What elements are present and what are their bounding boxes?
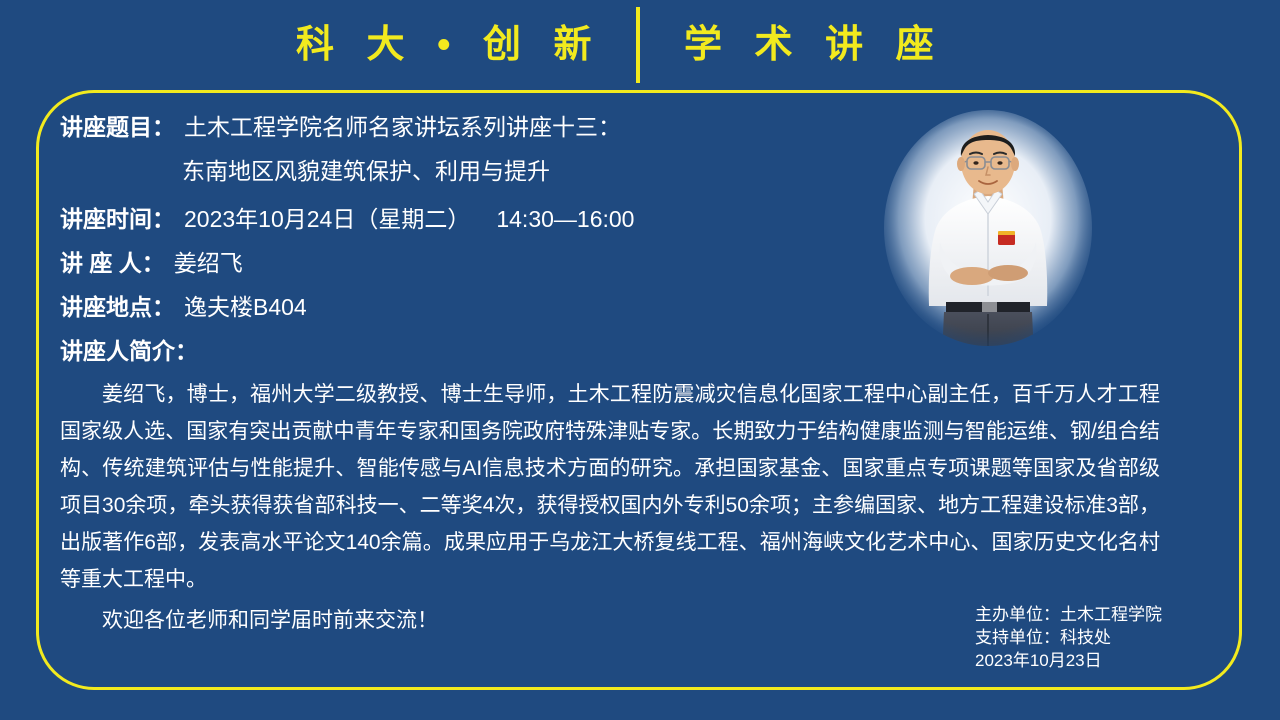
lecture-title-label: 讲座题目： [60,108,175,142]
poster-content: 讲座题目： 土木工程学院名师名家讲坛系列讲座十三： 东南地区风貌建筑保护、利用与… [60,108,1220,639]
header-left-title: 科 大 • 创 新 [296,26,636,64]
lecture-time-row: 讲座时间： 2023年10月24日（星期二） 14:30—16:00 [60,200,1220,244]
lecture-venue-row: 讲座地点： 逸夫楼B404 [60,288,1220,332]
lecture-time-date: 2023年10月24日（星期二） [184,200,470,234]
poster-header: 科 大 • 创 新 学 术 讲 座 [0,0,1280,90]
lecture-title-row-2: 东南地区风貌建筑保护、利用与提升 [60,152,1220,200]
lecture-speaker-value: 姜绍飞 [174,244,243,278]
footer-supporter: 支持单位：科技处 [975,626,1162,649]
header-right-title: 学 术 讲 座 [640,26,984,64]
lecture-title-line1: 土木工程学院名师名家讲坛系列讲座十三： [184,108,621,142]
lecture-time-range: 14:30—16:00 [496,206,634,233]
lecture-speaker-row: 讲 座 人： 姜绍飞 [60,244,1220,288]
lecture-time-label: 讲座时间： [60,200,175,234]
lecture-poster: 科 大 • 创 新 学 术 讲 座 [0,0,1280,720]
lecture-venue-label: 讲座地点： [60,288,175,322]
bio-heading: 讲座人简介： [60,332,1220,376]
footer-organizer: 主办单位：土木工程学院 [975,603,1162,626]
lecture-title-row: 讲座题目： 土木工程学院名师名家讲坛系列讲座十三： [60,108,1220,152]
lecture-title-line2: 东南地区风貌建筑保护、利用与提升 [182,152,550,186]
lecture-speaker-label: 讲 座 人： [60,244,165,278]
bio-paragraph: 姜绍飞，博士，福州大学二级教授、博士生导师，土木工程防震减灾信息化国家工程中心副… [60,376,1160,598]
footer-date: 2023年10月23日 [975,649,1162,672]
bio-heading-label: 讲座人简介： [60,332,198,366]
lecture-venue-value: 逸夫楼B404 [184,288,307,322]
poster-footer: 主办单位：土木工程学院 支持单位：科技处 2023年10月23日 [975,603,1162,672]
